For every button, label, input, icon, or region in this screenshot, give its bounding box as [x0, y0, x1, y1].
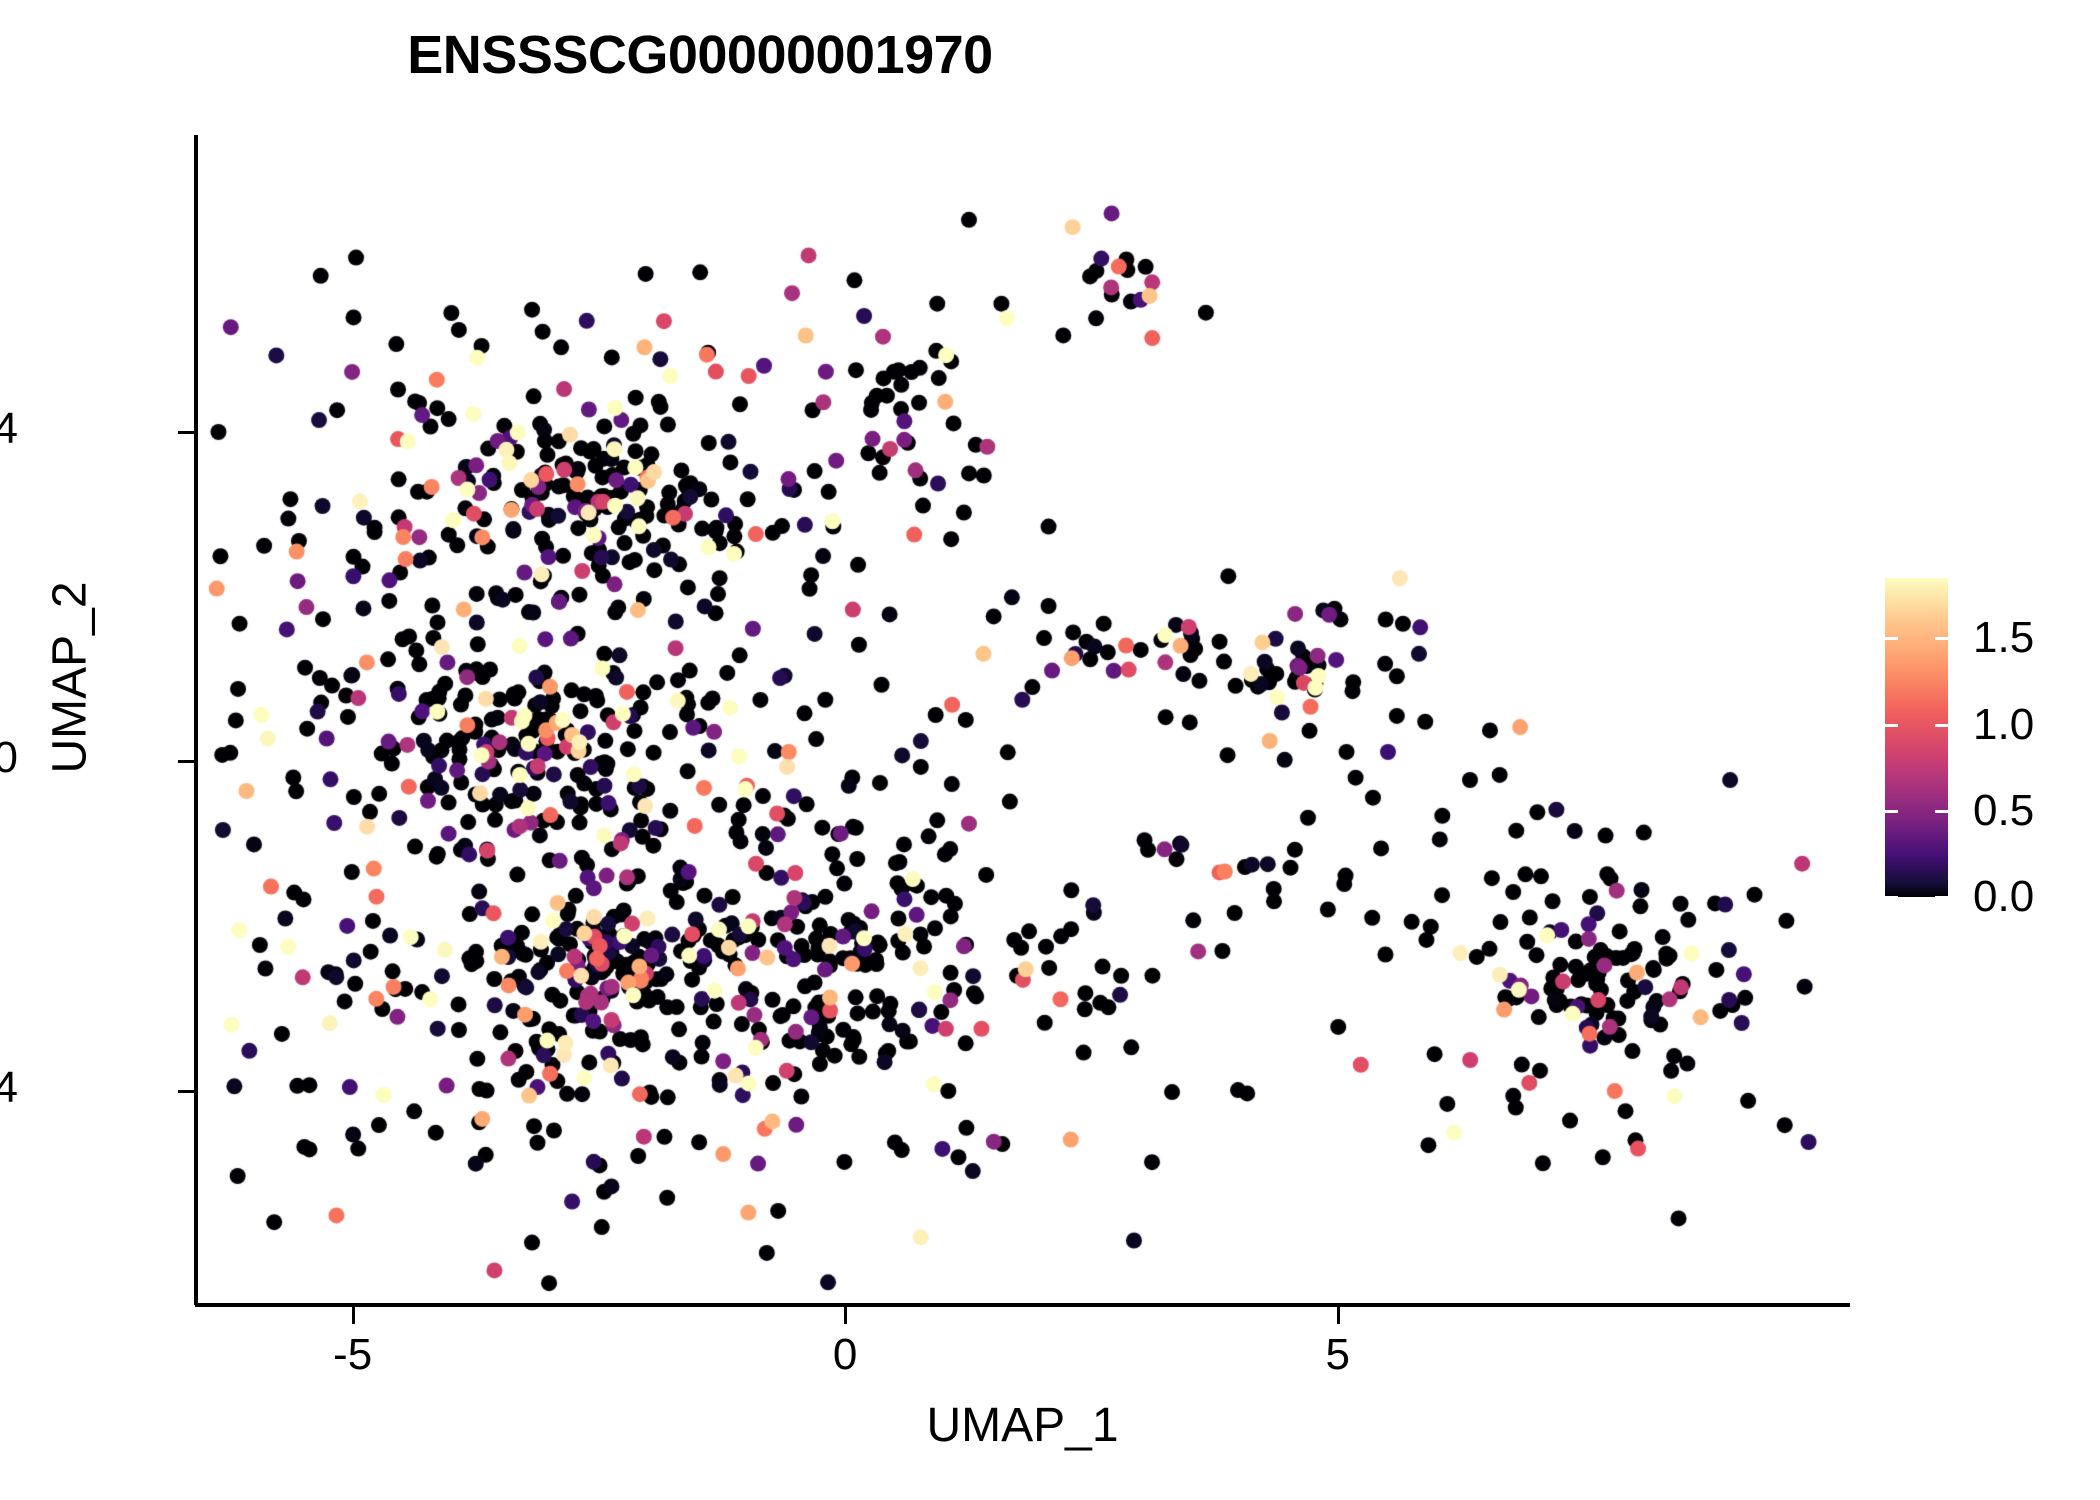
colorbar-gradient: [1885, 578, 1948, 897]
x-axis-title: UMAP_1: [195, 1398, 1850, 1453]
chart-root: ENSSSCG00000001970 -404 -505 UMAP_1 UMAP…: [0, 0, 2100, 1500]
colorbar-tick-label: 1.0: [1973, 700, 2034, 750]
y-axis-title: UMAP_2: [43, 418, 98, 938]
y-tick-mark: [178, 760, 194, 763]
colorbar-tick-label: 0.5: [1973, 786, 2034, 836]
colorbar-tick-mark: [1935, 724, 1948, 727]
colorbar-legend: 1.51.00.50.0: [1885, 578, 2085, 898]
x-tick-mark: [844, 1307, 847, 1324]
y-tick-label: 4: [0, 404, 18, 454]
y-tick-mark: [178, 431, 194, 434]
colorbar-tick-mark: [1885, 724, 1898, 727]
y-tick-label: 0: [0, 733, 18, 783]
colorbar-tick-mark: [1885, 637, 1898, 640]
x-tick-label: 5: [1278, 1330, 1398, 1380]
colorbar-tick-label: 0.0: [1973, 872, 2034, 922]
x-tick-mark: [1337, 1307, 1340, 1324]
colorbar-tick-label: 1.5: [1973, 613, 2034, 663]
colorbar-tick-mark: [1935, 896, 1948, 899]
x-tick-label: -5: [293, 1330, 413, 1380]
page-title: ENSSSCG00000001970: [0, 24, 1400, 86]
y-tick-mark: [178, 1090, 194, 1093]
colorbar-tick-mark: [1885, 896, 1898, 899]
scatter-points-layer: [195, 135, 1850, 1305]
x-tick-mark: [352, 1307, 355, 1324]
y-axis-line: [194, 135, 198, 1305]
x-axis-line: [195, 1303, 1850, 1307]
x-tick-label: 0: [785, 1330, 905, 1380]
colorbar-tick-mark: [1935, 810, 1948, 813]
y-tick-label: -4: [0, 1063, 18, 1113]
colorbar-tick-mark: [1885, 810, 1898, 813]
colorbar-tick-mark: [1935, 637, 1948, 640]
scatter-plot-panel: [195, 135, 1850, 1305]
